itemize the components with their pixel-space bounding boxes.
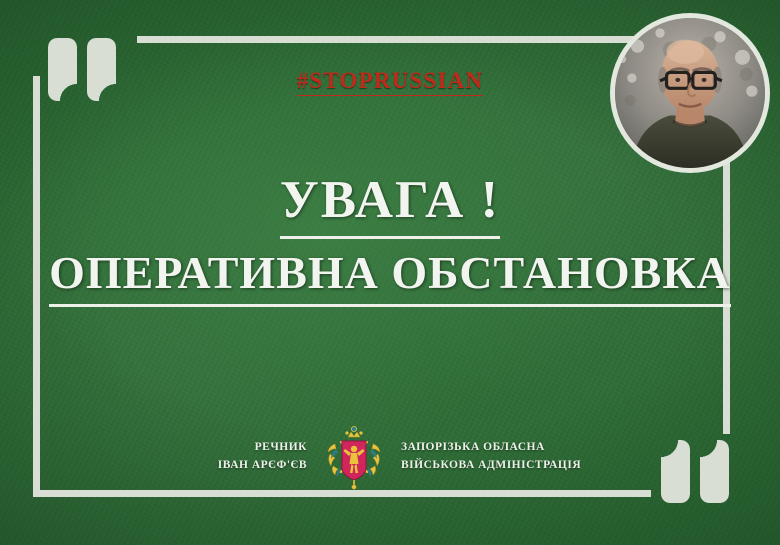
spokesperson-name: ІВАН АРЄФ'ЄВ bbox=[189, 457, 307, 475]
page-title-text: УВАГА ! bbox=[280, 170, 500, 239]
coat-of-arms-illustration bbox=[323, 424, 385, 490]
poster-canvas: #STOPRUSSIAN УВАГА ! ОПЕРАТИВНА ОБСТАНОВ… bbox=[0, 0, 780, 545]
footer: РЕЧНИК ІВАН АРЄФ'ЄВ bbox=[0, 424, 780, 490]
authority-line-2: ВІЙСЬКОВА АДМІНІСТРАЦІЯ bbox=[401, 457, 591, 475]
portrait-illustration bbox=[615, 18, 765, 168]
authority-line-1: ЗАПОРІЗЬКА ОБЛАСНА bbox=[401, 439, 591, 457]
page-subtitle: ОПЕРАТИВНА ОБСТАНОВКА bbox=[0, 246, 780, 307]
spokesperson-portrait bbox=[610, 13, 770, 173]
page-title: УВАГА ! bbox=[0, 170, 780, 239]
hashtag-text: #STOPRUSSIAN bbox=[297, 68, 484, 96]
authority-credit: ЗАПОРІЗЬКА ОБЛАСНА ВІЙСЬКОВА АДМІНІСТРАЦ… bbox=[401, 439, 591, 475]
zaporizhzhia-coat-of-arms-icon bbox=[323, 424, 385, 490]
frame-border-bottom bbox=[33, 490, 651, 497]
page-subtitle-text: ОПЕРАТИВНА ОБСТАНОВКА bbox=[49, 246, 731, 307]
spokesperson-role: РЕЧНИК bbox=[189, 439, 307, 457]
spokesperson-credit: РЕЧНИК ІВАН АРЄФ'ЄВ bbox=[189, 439, 307, 475]
